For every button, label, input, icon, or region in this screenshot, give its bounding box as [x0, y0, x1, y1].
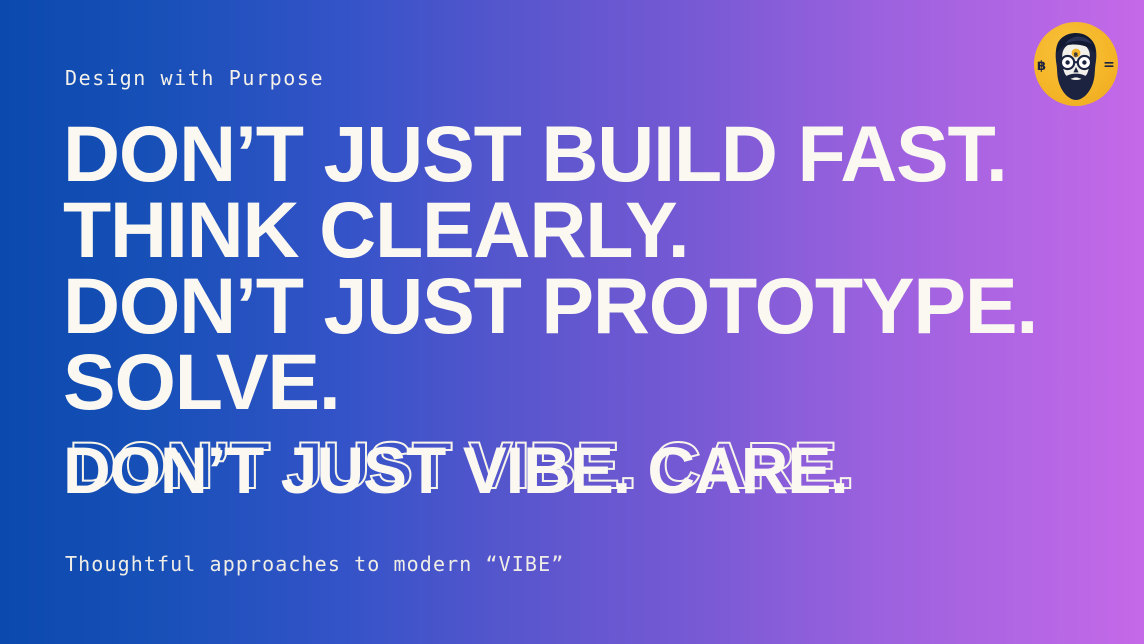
headline-line-1: DON’T JUST BUILD FAST.	[63, 116, 1063, 192]
emphasis-line: DON’T JUST VIBE. CARE. DON’T JUST VIBE. …	[63, 434, 848, 506]
headline-block: DON’T JUST BUILD FAST. THINK CLEARLY. DO…	[63, 116, 1063, 420]
emphasis-line-face: DON’T JUST VIBE. CARE.	[63, 433, 848, 507]
emphasis-block: DON’T JUST VIBE. CARE. DON’T JUST VIBE. …	[63, 434, 848, 506]
logo-badge[interactable]: ฿ = ฿	[1034, 22, 1118, 106]
headline-line-4: SOLVE.	[63, 344, 1063, 420]
svg-text:฿: ฿	[1037, 59, 1046, 74]
bearded-hipster-face-icon: ฿ = ฿	[1034, 22, 1118, 106]
headline-line-2: THINK CLEARLY.	[63, 192, 1063, 268]
eyebrow-label: Design with Purpose	[65, 66, 324, 90]
svg-text:฿: ฿	[1074, 51, 1078, 58]
svg-text:=: =	[1103, 57, 1115, 73]
headline-line-3: DON’T JUST PROTOTYPE.	[63, 268, 1063, 344]
caption-label: Thoughtful approaches to modern “VIBE”	[65, 552, 564, 576]
slide-canvas: Design with Purpose DON’T JUST BUILD FAS…	[0, 0, 1144, 644]
